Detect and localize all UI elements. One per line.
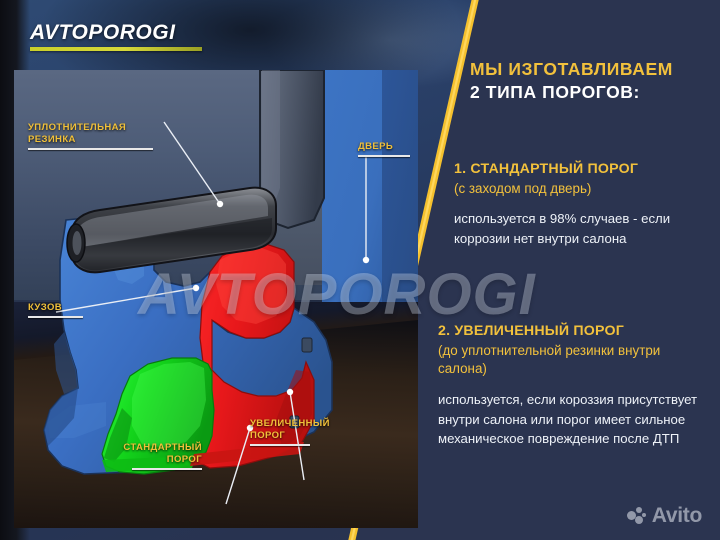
callout-underline <box>28 316 83 318</box>
avito-watermark: Avito <box>627 505 702 526</box>
brand-logo-underline <box>30 47 202 51</box>
callout-standard-sill-label: СТАНДАРТНЫЙ ПОРОГ <box>86 442 202 466</box>
brand-logo-text: AVTOPOROGI <box>30 22 202 43</box>
brand-logo: AVTOPOROGI <box>30 22 202 51</box>
callout-enlarged-sill-label: УВЕЛИЧЕННЫЙ ПОРОГ <box>250 418 348 442</box>
sill-type-2-body: используется, если короззия присутствует… <box>438 390 700 449</box>
headline-line-2: 2 ТИПА ПОРОГОВ: <box>470 81 720 104</box>
sill-type-block-2: 2. УВЕЛИЧЕННЫЙ ПОРОГ (до уплотнительной … <box>438 322 700 449</box>
callout-car-body: КУЗОВ <box>28 302 88 318</box>
sill-type-2-subtitle: (до уплотнительной резинки внутри салона… <box>438 342 700 378</box>
callout-underline <box>358 155 410 157</box>
infographic-root: AVTOPOROGI УПЛОТНИТЕЛЬНАЯ РЕЗИНКА КУЗОВ … <box>0 0 720 540</box>
callout-car-body-label: КУЗОВ <box>28 302 88 314</box>
sill-type-1-title: 1. СТАНДАРТНЫЙ ПОРОГ <box>454 160 716 179</box>
sill-type-2-title: 2. УВЕЛИЧЕННЫЙ ПОРОГ <box>438 322 700 341</box>
avito-logo-icon <box>627 507 647 525</box>
headline-line-1: МЫ ИЗГОТАВЛИВАЕМ <box>470 58 720 81</box>
callout-sealing-rubber-label: УПЛОТНИТЕЛЬНАЯ РЕЗИНКА <box>28 122 163 146</box>
avito-wordmark: Avito <box>652 505 702 526</box>
callout-standard-sill: СТАНДАРТНЫЙ ПОРОГ <box>86 442 202 470</box>
sill-type-block-1: 1. СТАНДАРТНЫЙ ПОРОГ (с заходом под двер… <box>454 160 716 248</box>
callout-underline <box>132 468 202 470</box>
callout-enlarged-sill: УВЕЛИЧЕННЫЙ ПОРОГ <box>250 418 348 446</box>
headline: МЫ ИЗГОТАВЛИВАЕМ 2 ТИПА ПОРОГОВ: <box>470 58 720 104</box>
callout-underline <box>250 444 310 446</box>
callout-underline <box>28 148 153 150</box>
callout-sealing-rubber: УПЛОТНИТЕЛЬНАЯ РЕЗИНКА <box>28 122 163 150</box>
sill-type-1-body: используется в 98% случаев - если корроз… <box>454 209 716 248</box>
right-text-column: МЫ ИЗГОТАВЛИВАЕМ 2 ТИПА ПОРОГОВ: 1. СТАН… <box>404 0 720 540</box>
sill-type-1-subtitle: (с заходом под дверь) <box>454 180 716 198</box>
